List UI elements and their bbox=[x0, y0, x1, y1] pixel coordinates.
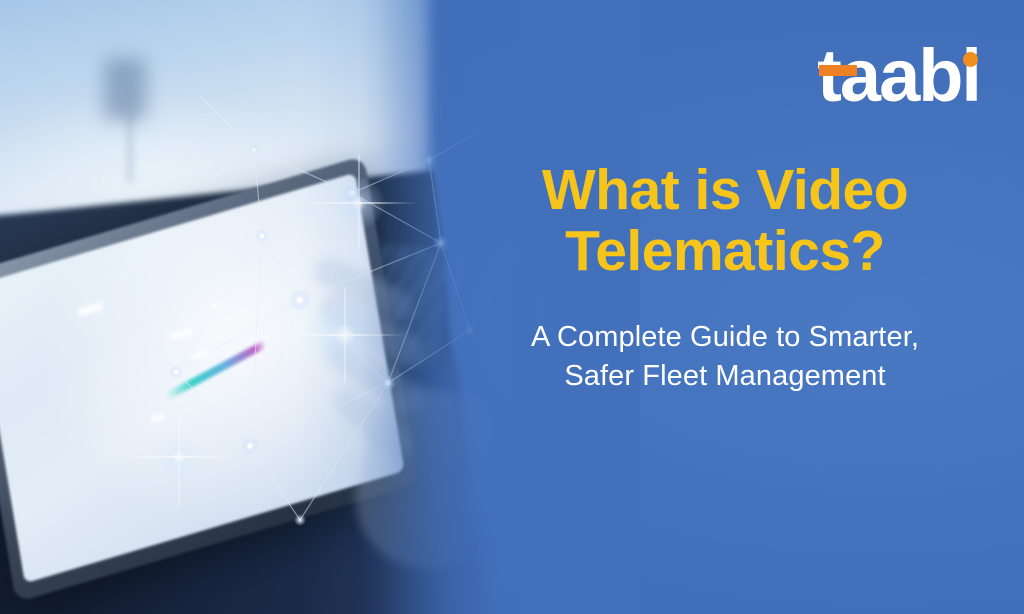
subhead-line-2: Safer Fleet Management bbox=[564, 360, 885, 392]
logo-wordmark: taabi bbox=[817, 44, 980, 108]
headline-line-1: What is Video bbox=[542, 158, 908, 222]
taabi-logo[interactable]: taabi bbox=[817, 42, 980, 108]
logo-t-crossbar-icon bbox=[819, 65, 857, 76]
subhead-line-1: A Complete Guide to Smarter, bbox=[531, 321, 919, 353]
page-subtitle: A Complete Guide to Smarter, Safer Fleet… bbox=[470, 318, 980, 396]
hero-text-block: What is Video Telematics? A Complete Gui… bbox=[470, 160, 980, 396]
logo-i-dot-icon bbox=[963, 52, 978, 67]
page-title: What is Video Telematics? bbox=[470, 160, 980, 282]
headline-line-2: Telematics? bbox=[565, 219, 885, 283]
hero-banner: taabi What is Video Telematics? A Comple… bbox=[0, 0, 1024, 614]
